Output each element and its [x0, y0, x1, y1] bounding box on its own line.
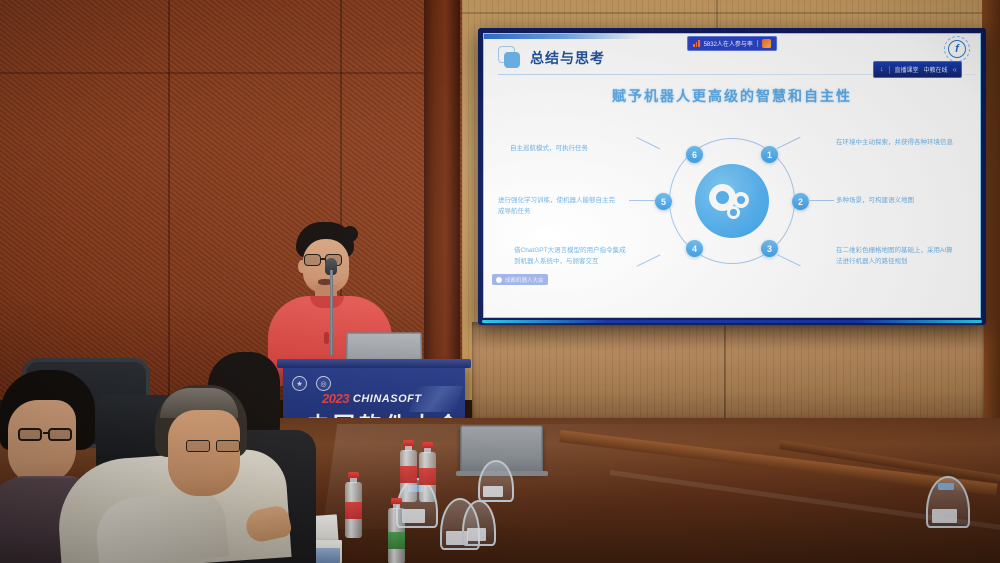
- signal-bars-icon: [693, 41, 700, 47]
- emblem-right-icon: ◎: [316, 376, 331, 391]
- live-channel-badge[interactable]: ↓ 直播课堂 中教在线 «: [873, 61, 962, 78]
- leader-line: [777, 137, 801, 150]
- apple-logo-icon: [497, 443, 507, 454]
- diagram-node-1[interactable]: 1: [761, 146, 778, 163]
- diagram-text-1: 在环境中主动探索，并获得各种环境信息: [836, 138, 954, 149]
- shirt-graphic: [324, 332, 329, 344]
- pill-badge-label: 直播课堂: [895, 65, 919, 74]
- diagram-node-2[interactable]: 2: [792, 193, 809, 210]
- wall-seam: [462, 12, 1000, 14]
- leader-line: [629, 200, 655, 201]
- podium-english-name: CHINASOFT: [353, 393, 422, 405]
- diagram-node-6[interactable]: 6: [686, 146, 703, 163]
- app-logo-icon: [762, 39, 771, 48]
- diagram-hub: [695, 164, 769, 238]
- diagram-node-4[interactable]: 4: [686, 240, 703, 257]
- wall-display-screen: 总结与思考 5832人在人参与率 f ↓ 直播课堂 中教在线 «: [478, 28, 986, 325]
- live-badge-text: 5832人在人参与率: [704, 39, 753, 48]
- diagram-text-5: 进行强化学习训练，使机器人能够自主完成导航任务: [498, 196, 616, 217]
- record-dot-icon: [496, 277, 502, 283]
- podium-branding-row: 2023 CHINASOFT: [322, 391, 422, 406]
- wall-pillar: [424, 0, 460, 400]
- gears-icon: [707, 179, 757, 223]
- attendee-left-face: [8, 400, 76, 484]
- attendee-center-face: [168, 410, 240, 496]
- water-bottle: [345, 472, 362, 538]
- leader-line: [636, 137, 660, 150]
- wall-seam: [168, 0, 170, 400]
- slide-section-header: 总结与思考: [498, 46, 605, 69]
- slide-surface: 总结与思考 5832人在人参与率 f ↓ 直播课堂 中教在线 «: [483, 33, 981, 318]
- podium-emblems: ★ ◎: [292, 376, 331, 391]
- water-bottle: [419, 442, 436, 502]
- diagram-text-4: 借ChatGPT大语言模型的用户指令集成到机器人系统中，与顾客交互: [514, 246, 632, 267]
- live-viewer-badge[interactable]: 5832人在人参与率: [687, 36, 777, 51]
- diagram-text-3: 在二维彩色栅格地图的基础上，采用AI算法进行机器人的路径规划: [836, 246, 954, 267]
- podium-top-edge: [277, 359, 471, 368]
- diagram-node-5[interactable]: 5: [655, 193, 672, 210]
- podium-year: 2023: [322, 391, 349, 406]
- glasses-icon: [186, 440, 248, 452]
- water-bottle: [400, 440, 417, 502]
- slide-main-title: 赋予机器人更高级的智慧和自主性: [484, 86, 980, 106]
- diagram-text-6: 自主巡航模式，可执行任务: [510, 144, 628, 155]
- leader-line: [636, 254, 660, 267]
- corporate-logo-icon: f: [944, 36, 970, 62]
- credenza-seam: [724, 326, 726, 418]
- divider: [757, 40, 758, 47]
- stream-watermark: 成都机器人大会: [492, 274, 548, 285]
- rounded-square-icon: [498, 46, 521, 69]
- diagram-node-3[interactable]: 3: [761, 240, 778, 257]
- leader-line: [808, 200, 834, 201]
- download-icon: ↓: [880, 66, 884, 73]
- cycle-diagram: 1 2 3 4 5 6 在环境中主动探索，并获得各种环境信息 多种场景，可构建语…: [484, 108, 980, 308]
- watermark-text: 成都机器人大会: [505, 276, 544, 284]
- leader-line: [777, 254, 801, 267]
- divider: [889, 66, 890, 74]
- glasses-icon: [18, 428, 80, 441]
- pill-badge-sub: 中教在线: [924, 65, 948, 74]
- conference-room-scene: 总结与思考 5832人在人参与率 f ↓ 直播课堂 中教在线 «: [0, 0, 1000, 563]
- chevrons-icon: «: [953, 65, 955, 74]
- emblem-left-icon: ★: [292, 376, 307, 391]
- water-bottle: [388, 498, 405, 563]
- credenza: [472, 322, 984, 418]
- diagram-text-2: 多种场景，可构建语义地图: [836, 196, 954, 207]
- wall-seam: [0, 72, 462, 74]
- slide-section-title: 总结与思考: [530, 48, 605, 68]
- microphone-stem: [330, 270, 333, 355]
